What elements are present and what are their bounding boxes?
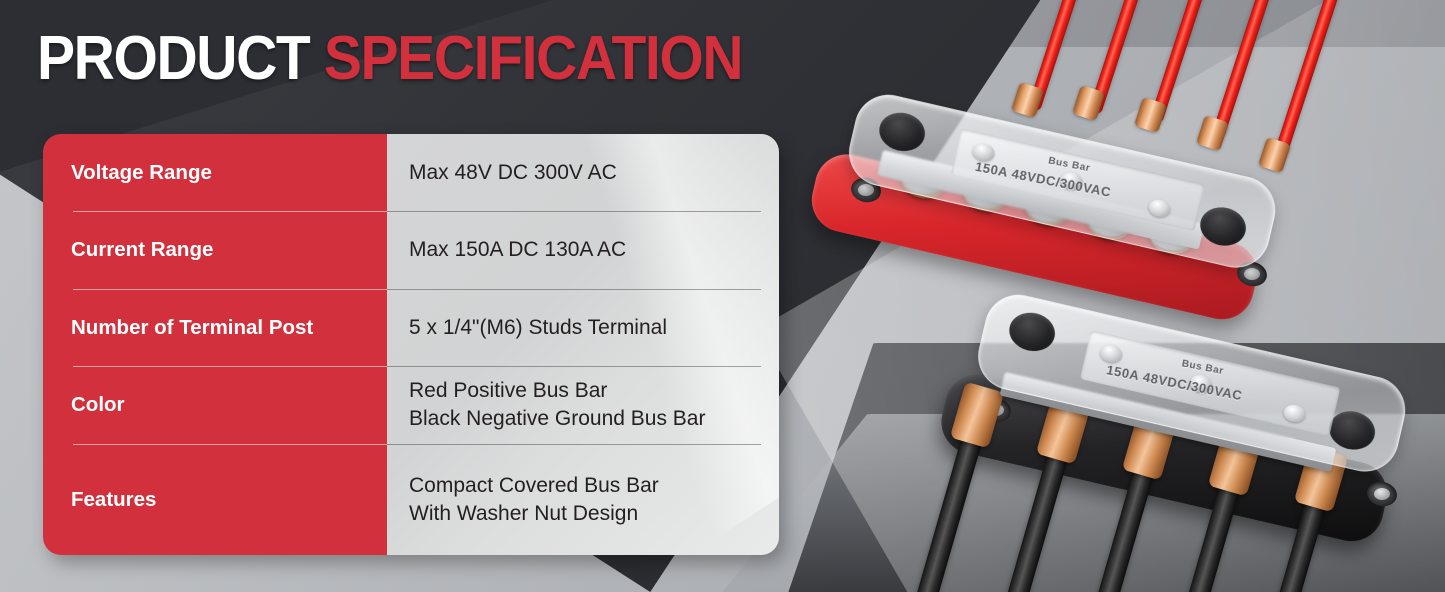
red-base-screw-left	[858, 184, 874, 196]
red-wire-ferrule-4	[1196, 115, 1229, 151]
spec-label-text: Features	[71, 488, 156, 512]
spec-value-text: Max 48V DC 300V AC	[409, 159, 617, 187]
spec-value-text: Red Positive Bus Bar	[409, 377, 705, 405]
spec-label-text: Current Range	[71, 238, 213, 262]
red-wire-4	[1211, 0, 1283, 139]
black-cover-stud-3	[1282, 403, 1307, 425]
spec-value-cell: 5 x 1/4"(M6) Studs Terminal	[387, 289, 779, 366]
spec-value-cell: Max 150A DC 130A AC	[387, 211, 779, 289]
spec-value-cell: Red Positive Bus Bar Black Negative Grou…	[387, 366, 779, 444]
spec-value-text: 5 x 1/4"(M6) Studs Terminal	[409, 314, 667, 342]
specification-table: Voltage Range Current Range Number of Te…	[43, 134, 779, 555]
spec-value-text: With Washer Nut Design	[409, 500, 659, 528]
spec-value-text: Compact Covered Bus Bar	[409, 472, 659, 500]
specification-value-column: Max 48V DC 300V AC Max 150A DC 130A AC 5…	[387, 134, 779, 555]
spec-value-cell: Compact Covered Bus Bar With Washer Nut …	[387, 444, 779, 555]
spec-label-cell: Features	[43, 444, 387, 555]
red-wire-ferrule-1	[1011, 82, 1044, 118]
spec-label-cell: Voltage Range	[43, 134, 387, 211]
spec-label-text: Voltage Range	[71, 161, 212, 185]
spec-label-text: Color	[71, 393, 125, 417]
red-base-screw-right	[1244, 268, 1260, 280]
red-wire-5	[1273, 0, 1352, 159]
title-word-specification: SPECIFICATION	[324, 24, 742, 93]
spec-label-cell: Number of Terminal Post	[43, 289, 387, 366]
red-cover-cap-right	[1196, 203, 1249, 250]
spec-label-cell: Current Range	[43, 211, 387, 289]
page-title: PRODUCT SPECIFICATION	[37, 28, 742, 90]
black-base-screw-right	[1374, 488, 1390, 500]
black-cover-cap-left	[1005, 308, 1058, 355]
black-cover-stud-1	[1099, 343, 1124, 365]
specification-label-column: Voltage Range Current Range Number of Te…	[43, 134, 387, 555]
red-wire-ferrule-5	[1258, 137, 1291, 173]
product-photo: Bus Bar 150A 48VDC/300VAC	[805, 0, 1445, 592]
spec-value-cell: Max 48V DC 300V AC	[387, 134, 779, 211]
product-specification-banner: Bus Bar 150A 48VDC/300VAC	[0, 0, 1445, 592]
spec-value-text: Max 150A DC 130A AC	[409, 236, 626, 264]
title-word-product: PRODUCT	[37, 24, 309, 93]
red-wire-ferrule-2	[1072, 85, 1105, 121]
spec-value-text: Black Negative Ground Bus Bar	[409, 405, 705, 433]
red-cover-stud-3	[1147, 198, 1172, 220]
spec-label-cell: Color	[43, 366, 387, 444]
red-wire-ferrule-3	[1134, 97, 1167, 133]
red-cover-cap-left	[875, 108, 928, 155]
spec-label-text: Number of Terminal Post	[71, 316, 313, 340]
